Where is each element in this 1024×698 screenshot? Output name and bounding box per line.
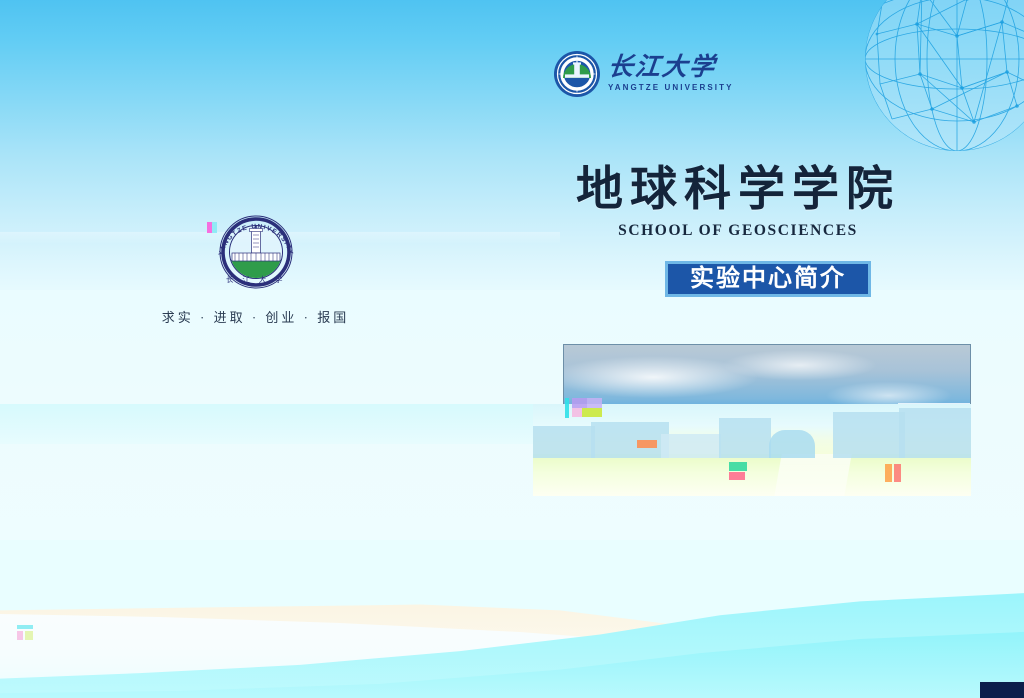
section-banner: 实验中心简介 xyxy=(665,261,871,297)
photo-swatch-red xyxy=(894,464,901,482)
yangtze-university-emblem-icon: YANGTZE UNIVERSITY 长 江 大 学 xyxy=(213,212,299,292)
photo-swatch-orange xyxy=(885,464,892,482)
glitch-swatch-lime xyxy=(25,631,33,640)
header-brand-lockup: 长江大学 YANGTZE UNIVERSITY xyxy=(553,46,703,102)
glitch-swatch-lilac xyxy=(587,398,602,408)
wordmark-en: YANGTZE UNIVERSITY xyxy=(608,83,734,93)
photo-swatch-green xyxy=(729,462,747,471)
title-english: SCHOOL OF GEOSCIENCES xyxy=(576,222,900,240)
wordmark: 长江大学 YANGTZE UNIVERSITY xyxy=(608,55,734,93)
glitch-swatch-lime xyxy=(582,408,602,417)
glitch-swatch-violet xyxy=(572,398,587,408)
photo-swatch-orange xyxy=(637,440,657,448)
university-motto: 求实 · 进取 · 创业 · 报国 xyxy=(148,307,363,326)
campus-panorama-photo xyxy=(533,404,971,496)
glitch-swatch-cyan xyxy=(565,398,569,418)
photo-building xyxy=(661,434,721,458)
svg-text:长 江 大 学: 长 江 大 学 xyxy=(226,274,286,284)
corner-navy-block xyxy=(980,682,1024,698)
title-chinese: 地球科学学院 xyxy=(576,166,900,215)
photo-building xyxy=(899,408,971,458)
photo-walkway xyxy=(775,454,852,496)
photo-building xyxy=(769,430,815,458)
photo-lawn xyxy=(533,454,971,496)
yangtze-university-seal-icon xyxy=(553,50,601,98)
section-banner-label: 实验中心简介 xyxy=(690,267,846,291)
brochure-cover-page: 长江大学 YANGTZE UNIVERSITY 地球科学学院 SCHOOL OF… xyxy=(0,0,1024,698)
glitch-swatch-pink xyxy=(572,408,582,417)
photo-building xyxy=(533,426,595,458)
wireframe-globe-icon xyxy=(862,0,1024,154)
photo-swatch-pink xyxy=(729,472,745,480)
photo-building xyxy=(833,412,905,458)
glitch-swatch-pink xyxy=(17,631,23,640)
photo-building xyxy=(591,422,669,458)
photo-building xyxy=(719,418,771,458)
glitch-swatch-cyan xyxy=(17,625,33,629)
wordmark-cn: 长江大学 xyxy=(607,55,735,81)
page-title: 地球科学学院 SCHOOL OF GEOSCIENCES xyxy=(576,166,900,240)
